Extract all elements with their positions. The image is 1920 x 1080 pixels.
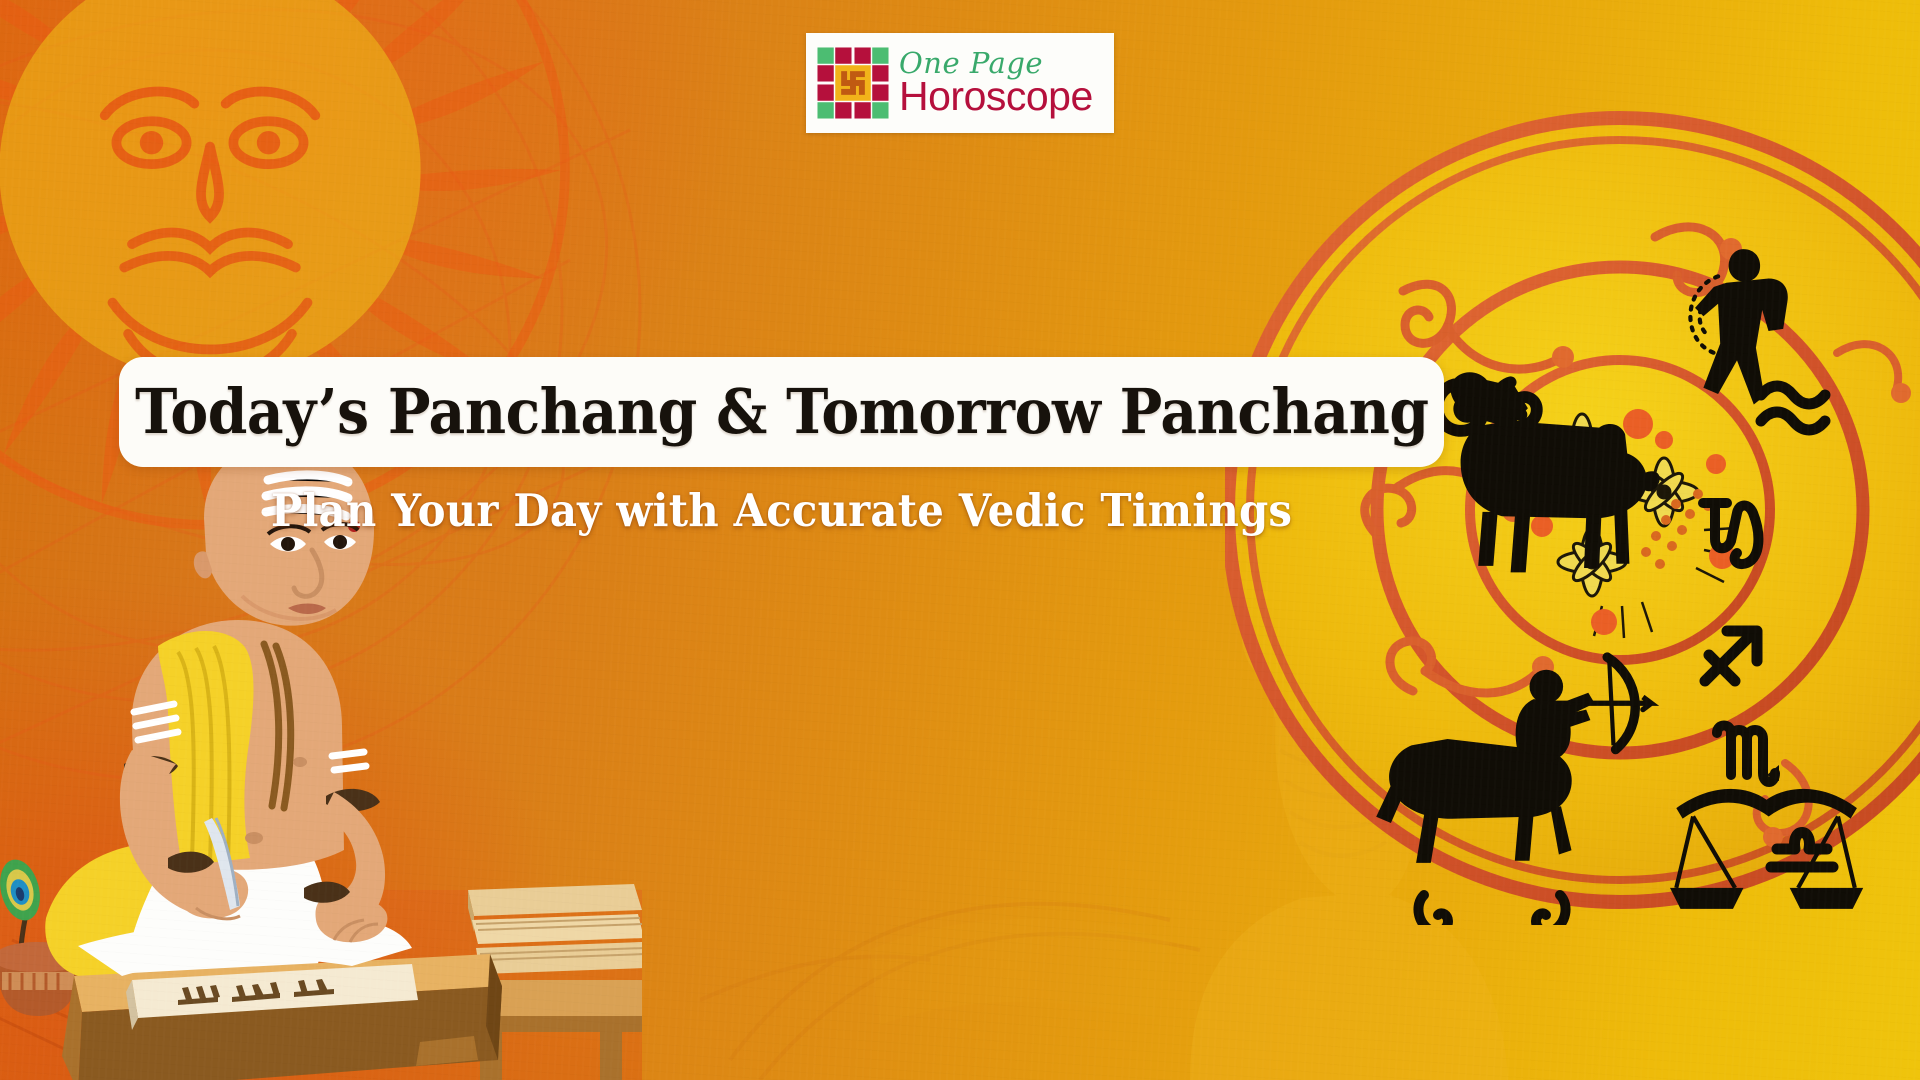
page-title: Today’s Panchang & Tomorrow Panchang xyxy=(135,381,1429,443)
swastika-mandala-icon xyxy=(816,46,890,120)
site-logo[interactable]: One Page Horoscope xyxy=(806,33,1114,133)
logo-line-two: Horoscope xyxy=(899,76,1093,117)
logo-wordmark: One Page Horoscope xyxy=(899,49,1093,117)
panchang-hero-banner: One Page Horoscope Today’s Panchang & To… xyxy=(0,0,1920,1080)
page-subtitle: Plan Your Day with Accurate Vedic Timing… xyxy=(165,488,1397,533)
stacked-books xyxy=(468,884,642,974)
headline-plate: Today’s Panchang & Tomorrow Panchang xyxy=(119,357,1444,467)
scroll-paper-watermark xyxy=(700,760,1260,1080)
